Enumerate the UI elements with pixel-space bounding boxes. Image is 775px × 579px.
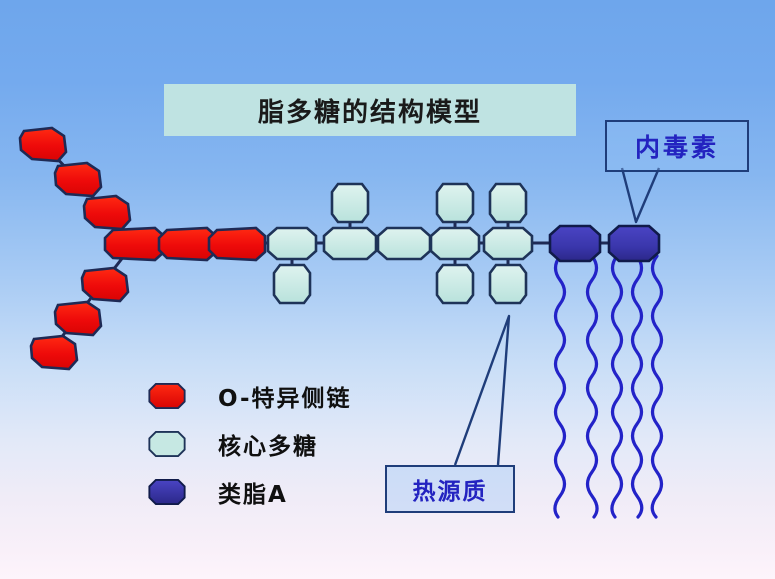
fatty-acid-tail — [588, 256, 598, 517]
legend-label-lipid-a: 类脂A — [218, 475, 288, 509]
core-unit — [268, 228, 316, 259]
lipid-a-unit — [609, 226, 659, 261]
page-title: 脂多糖的结构模型 — [258, 92, 482, 129]
o-antigen-unit — [209, 228, 265, 260]
octagon-darkblue-icon — [148, 479, 186, 505]
legend-item-o-antigen: O-特异侧链 — [148, 372, 352, 420]
o-antigen-unit — [105, 228, 164, 260]
core-branch-unit — [437, 184, 473, 222]
fatty-acid-tail — [652, 256, 661, 517]
core-unit — [484, 228, 532, 259]
core-branch-unit — [274, 265, 310, 303]
endotoxin-pointer — [622, 168, 659, 222]
callout-pyrogen-label: 热源质 — [413, 472, 488, 506]
diagram-title-box: 脂多糖的结构模型 — [164, 84, 576, 136]
lipid-a-unit — [550, 226, 600, 261]
core-branch-unit — [332, 184, 368, 222]
octagon-cyan-icon — [148, 431, 186, 457]
diagram-canvas: 脂多糖的结构模型 内毒素 热源质 O-特异侧链 核心多糖 — [0, 0, 775, 579]
legend-item-lipid-a: 类脂A — [148, 468, 352, 516]
o-antigen-unit — [20, 128, 66, 161]
legend-item-core-polysaccharide: 核心多糖 — [148, 420, 352, 468]
o-antigen-unit — [159, 228, 216, 260]
o-antigen-unit — [31, 336, 77, 369]
o-antigen-chain — [20, 128, 265, 369]
core-unit — [431, 228, 479, 259]
o-antigen-unit — [82, 268, 128, 301]
core-unit — [324, 228, 376, 259]
legend: O-特异侧链 核心多糖 类脂A — [148, 372, 352, 516]
legend-label-core-polysaccharide: 核心多糖 — [218, 427, 318, 461]
core-branch-unit — [490, 265, 526, 303]
o-antigen-unit — [55, 302, 101, 335]
core-branch-unit — [490, 184, 526, 222]
callout-pyrogen[interactable]: 热源质 — [385, 465, 515, 513]
callout-endotoxin[interactable]: 内毒素 — [605, 120, 749, 172]
o-antigen-unit — [55, 163, 101, 196]
core-polysaccharide-chain — [268, 184, 532, 303]
pyrogen-pointer — [455, 316, 509, 465]
lipid-a-fatty-acid-tails — [555, 256, 662, 517]
legend-label-o-antigen: O-特异侧链 — [218, 379, 352, 413]
core-unit — [378, 228, 430, 259]
fatty-acid-tail — [612, 256, 622, 517]
fatty-acid-tail — [555, 256, 565, 517]
o-antigen-unit — [84, 196, 130, 229]
fatty-acid-tail — [633, 256, 642, 517]
octagon-red-icon — [148, 383, 186, 409]
core-branch-unit — [437, 265, 473, 303]
callout-endotoxin-label: 内毒素 — [635, 128, 719, 164]
